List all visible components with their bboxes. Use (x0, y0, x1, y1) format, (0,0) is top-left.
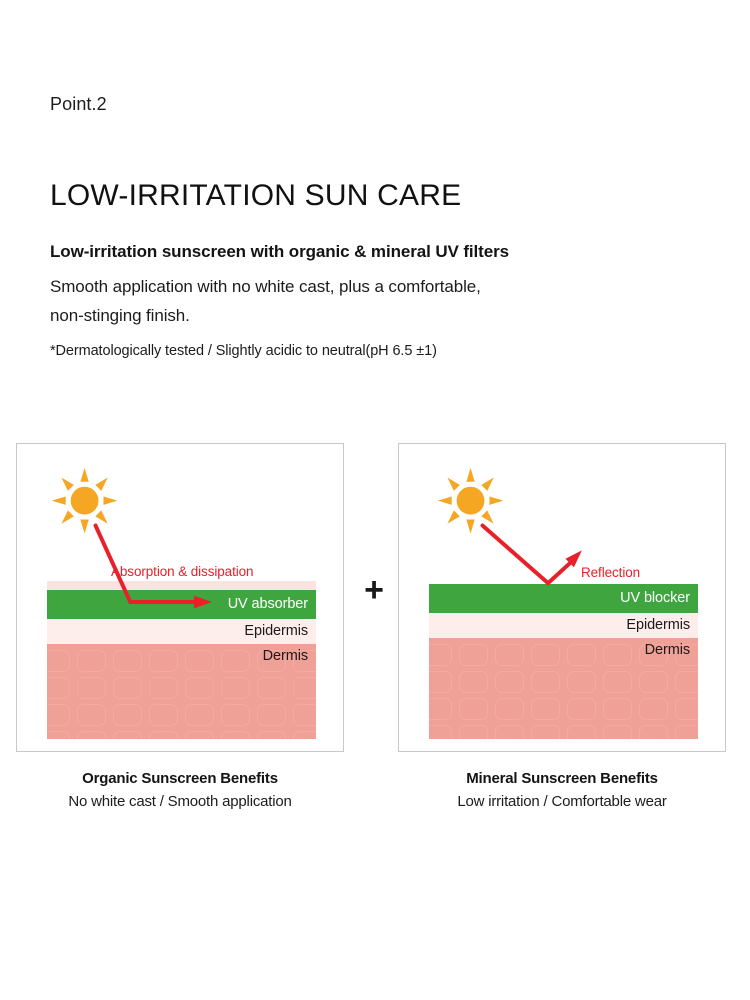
copy-lead: Low-irritation sunscreen with organic & … (50, 240, 670, 265)
layer-uv-blocker: UV blocker (429, 584, 698, 613)
copy-block: Low-irritation sunscreen with organic & … (50, 240, 670, 363)
layer-dermis: Dermis (47, 644, 316, 739)
caption-subtitle: No white cast / Smooth application (16, 793, 344, 810)
layer-epidermis: Epidermis (47, 619, 316, 644)
layer-label: Epidermis (244, 624, 308, 639)
page-title: LOW-IRRITATION SUN CARE (50, 179, 461, 213)
flow-label-absorption: Absorption & dissipation (111, 564, 253, 579)
sun-icon (52, 468, 118, 534)
reflection-arrow-icon (482, 526, 581, 584)
caption-mineral: Mineral Sunscreen Benefits Low irritatio… (398, 770, 726, 810)
copy-body-line-2: non-stinging finish. (50, 301, 670, 330)
layer-label: Dermis (263, 649, 308, 664)
point-label: Point.2 (50, 94, 107, 115)
caption-title: Mineral Sunscreen Benefits (398, 770, 726, 787)
flow-label-reflection: Reflection (581, 565, 640, 580)
layer-label: UV absorber (228, 597, 308, 612)
caption-title: Organic Sunscreen Benefits (16, 770, 344, 787)
layer-uv-absorber: UV absorber (47, 590, 316, 619)
layer-dermis: Dermis (429, 638, 698, 739)
skin-stack-mineral: UV blocker Epidermis (429, 584, 698, 739)
layer-label: Dermis (645, 643, 690, 658)
layer-label: UV blocker (620, 591, 690, 606)
skin-stack-organic: UV absorber Epidermis (47, 581, 316, 739)
caption-organic: Organic Sunscreen Benefits No white cast… (16, 770, 344, 810)
skin-surface-layer (47, 581, 316, 590)
diagram-panel-mineral: UV blocker Epidermis (398, 443, 726, 752)
caption-subtitle: Low irritation / Comfortable wear (398, 793, 726, 810)
layer-epidermis: Epidermis (429, 613, 698, 638)
layer-label: Epidermis (626, 618, 690, 633)
copy-note: *Dermatologically tested / Slightly acid… (50, 341, 670, 363)
plus-separator-icon: + (360, 572, 388, 608)
sun-icon (438, 468, 504, 534)
copy-body-line-1: Smooth application with no white cast, p… (50, 272, 670, 301)
diagram-panel-organic: UV absorber Epidermis (16, 443, 344, 752)
